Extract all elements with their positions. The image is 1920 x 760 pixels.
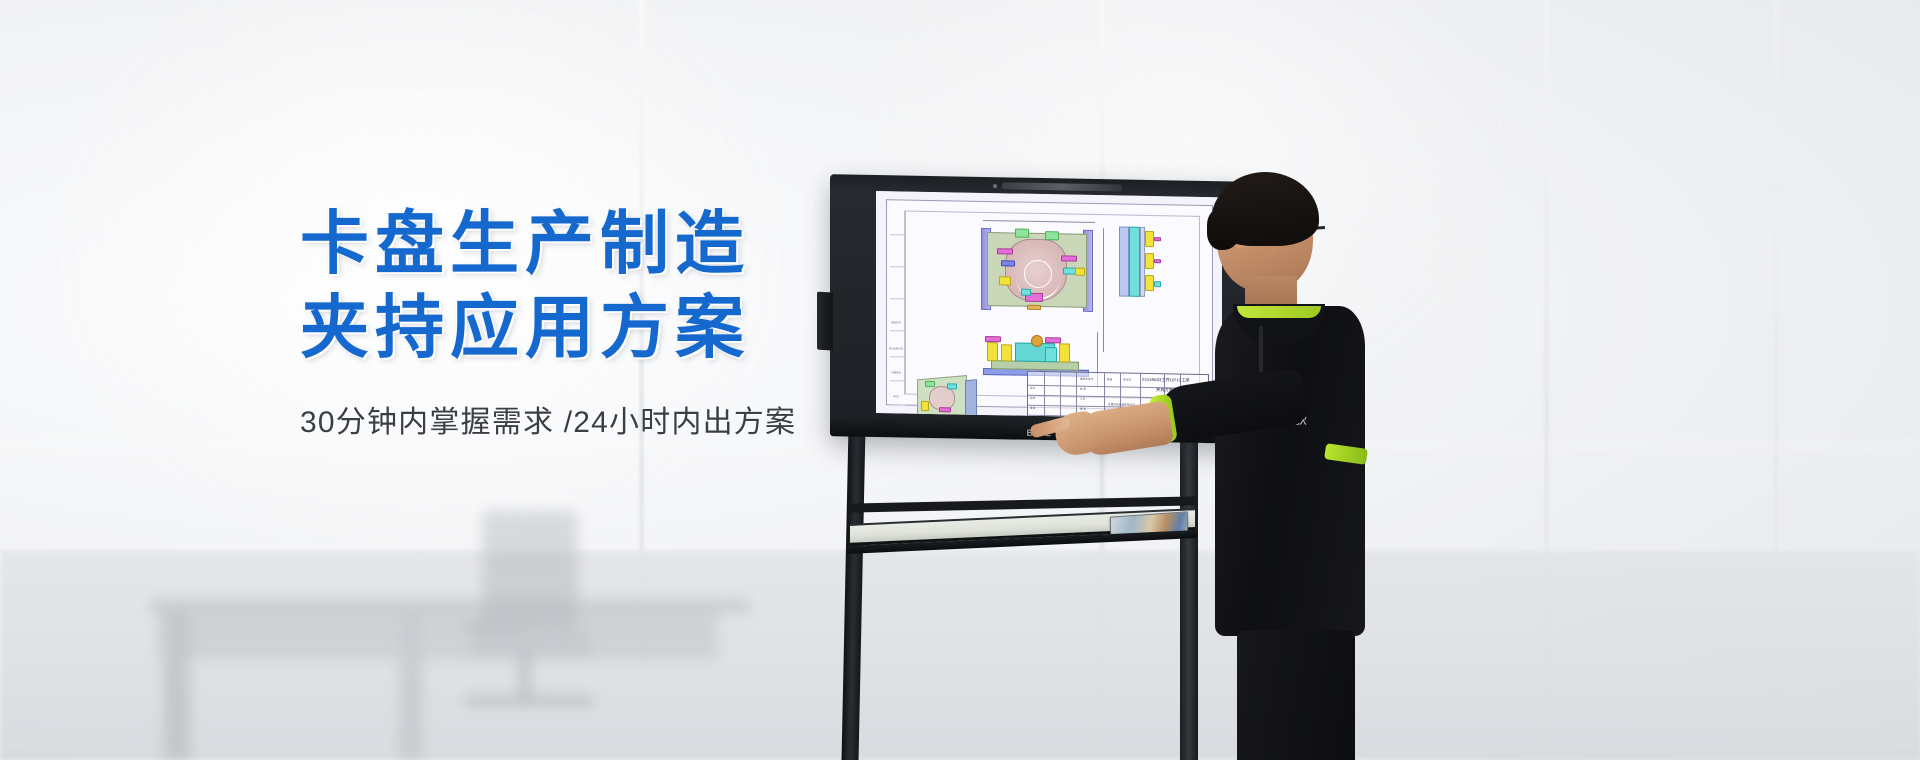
stand-shelf [842,512,1202,548]
title-block-cell: 签名 [1107,379,1112,382]
upper-arm-sleeve [1156,367,1309,445]
presenter-legs [1237,630,1355,760]
presenter: 六狄 [1175,178,1435,760]
dimension-line [1103,228,1104,352]
page-title: 卡盘生产制造 夹持应用方案 [300,205,1060,367]
title-block-cell: 更改文件号 [1080,379,1093,382]
headline-line-2: 夹持应用方案 [300,289,1060,367]
cad-view-right-elevation [1119,226,1163,297]
headline-block: 卡盘生产制造 夹持应用方案 30分钟内掌握需求 /24小时内出方案 [300,205,1060,441]
presenter-hair [1211,172,1319,246]
subheadline: 30分钟内掌握需求 /24小时内出方案 [300,397,1060,441]
camera-bar-icon [1002,182,1122,191]
status-led-icon [993,184,997,188]
stand-post-left [842,428,866,760]
office-chair [440,510,690,760]
hero-banner: 卡盘生产制造 夹持应用方案 30分钟内掌握需求 /24小时内出方案 [0,0,1920,760]
headline-line-1: 卡盘生产制造 [300,205,750,282]
shirt-collar-trim [1237,306,1321,318]
